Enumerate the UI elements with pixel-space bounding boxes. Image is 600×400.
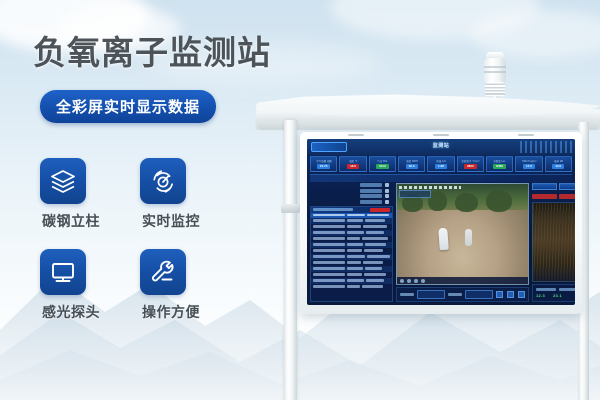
- monitor-icon: [40, 249, 86, 295]
- feature-label: 操作方便: [140, 302, 200, 322]
- control-label: [448, 293, 462, 296]
- sensor-radiation-fins: [485, 82, 505, 97]
- kpi-strip: 空气质量 指数 21.74 温度 ℃ 18.6 气压 hPa 1013 湿度 %…: [310, 156, 572, 172]
- summary-list: [310, 183, 393, 204]
- page-title: 负氧离子监测站: [33, 26, 271, 74]
- kpi-value: 43.5: [552, 164, 564, 169]
- alert-badge: [559, 194, 576, 199]
- kpi-label: 负氧离子 个/cm³: [461, 159, 479, 163]
- feature-label: 感光探头: [40, 302, 100, 322]
- kpi-label: 空气质量 指数: [316, 159, 331, 163]
- preset-select[interactable]: [465, 290, 493, 299]
- readout-value: 23.1: [553, 293, 562, 298]
- kpi-label: 温度 ℃: [349, 159, 357, 163]
- kpi-value: 1013: [376, 164, 389, 169]
- right-panel: 12.3 23.1: [532, 183, 575, 302]
- screen-logo-tag: [311, 142, 347, 152]
- weather-sensor: [482, 52, 508, 102]
- list-item: [360, 183, 389, 187]
- screen-divider-bar: [310, 174, 572, 182]
- screen-header-decor: [520, 141, 572, 153]
- table-row[interactable]: [311, 284, 392, 290]
- kpi-card[interactable]: 光照度 Lux 8450: [486, 156, 513, 172]
- pole-left: [284, 120, 297, 400]
- ctrl-button[interactable]: [496, 291, 503, 298]
- video-person: [438, 228, 449, 251]
- video-pause-icon[interactable]: [407, 279, 411, 283]
- kpi-card[interactable]: 温度 ℃ 18.6: [339, 156, 366, 172]
- kpi-label: 噪声 dB: [554, 159, 563, 163]
- alert-row: [532, 192, 575, 200]
- left-panel: [310, 183, 393, 302]
- screen-title: 监测站: [433, 142, 450, 149]
- canopy-highlight: [256, 94, 600, 116]
- control-buttons[interactable]: [496, 291, 525, 298]
- pole-clamp: [281, 204, 300, 213]
- kpi-card[interactable]: 负氧离子 个/cm³ 2860: [457, 156, 484, 172]
- list-item: [360, 200, 389, 204]
- kpi-value: 17.0: [523, 164, 535, 169]
- footer-labels: [536, 288, 575, 291]
- wrench-icon: [140, 249, 186, 295]
- kpi-value: 18.6: [347, 164, 359, 169]
- kpi-value: 21.74: [317, 164, 331, 169]
- feature-item-carbon-steel-column[interactable]: 碳钢立柱: [40, 158, 140, 231]
- kpi-value: 62.3: [406, 164, 418, 169]
- kpi-value: 2860: [464, 164, 477, 169]
- video-toolbar[interactable]: [397, 277, 528, 284]
- kpi-card[interactable]: 湿度 %RH 62.3: [398, 156, 425, 172]
- video-feed-main[interactable]: [396, 183, 529, 285]
- monitoring-station: 监测站 空气质量 指数 21.74 温度 ℃ 18.6 气压 hPa 1013: [248, 44, 600, 400]
- kpi-card[interactable]: 气压 hPa 1013: [369, 156, 396, 172]
- tab-item[interactable]: [559, 183, 576, 190]
- control-label: [400, 293, 414, 296]
- feature-item-photosensitive-probe[interactable]: 感光探头: [40, 249, 140, 322]
- kpi-label: 风速 m/s: [436, 159, 446, 163]
- kpi-card[interactable]: 空气质量 指数 21.74: [310, 156, 337, 172]
- kpi-label: 光照度 Lux: [494, 159, 506, 163]
- display-cabinet: 监测站 空气质量 指数 21.74 温度 ℃ 18.6 气压 hPa 1013: [300, 132, 582, 314]
- sensor-readouts: 12.3 23.1: [536, 293, 575, 298]
- feature-item-easy-operation[interactable]: 操作方便: [140, 249, 240, 322]
- kpi-value: 1.28: [435, 164, 447, 169]
- right-tabs[interactable]: [532, 183, 575, 190]
- feature-grid: 碳钢立柱 实时监控: [40, 158, 240, 322]
- data-table[interactable]: [310, 206, 393, 303]
- video-tree: [486, 190, 512, 212]
- alert-badge: [532, 194, 557, 199]
- cabinet-vents: [300, 134, 582, 138]
- highlight-badge: 全彩屏实时显示数据: [40, 90, 216, 123]
- kpi-label: 湿度 %RH: [406, 159, 417, 163]
- radar-icon: [140, 158, 186, 204]
- sensor-band: [484, 66, 506, 68]
- feature-label: 实时监控: [140, 211, 200, 231]
- kpi-label: 气压 hPa: [377, 159, 387, 163]
- center-panel: [396, 183, 529, 302]
- video-snapshot-icon[interactable]: [414, 279, 418, 283]
- video-tree: [428, 191, 446, 211]
- dashboard-screen[interactable]: 监测站 空气质量 指数 21.74 温度 ℃ 18.6 气压 hPa 1013: [307, 139, 575, 305]
- ctrl-button[interactable]: [518, 291, 525, 298]
- ctrl-button[interactable]: [507, 291, 514, 298]
- feature-label: 碳钢立柱: [40, 211, 100, 231]
- kpi-label: PM2.5 ug/m³: [522, 160, 536, 163]
- list-item: [360, 189, 389, 193]
- kpi-value: 8450: [493, 164, 506, 169]
- tab-item[interactable]: [532, 183, 557, 190]
- video-osd-text: [399, 186, 461, 189]
- list-item: [360, 194, 389, 198]
- layers-icon: [40, 158, 86, 204]
- video-play-icon[interactable]: [400, 279, 404, 283]
- video-osd-box: [399, 190, 431, 198]
- video-fullscreen-icon[interactable]: [421, 279, 425, 283]
- kpi-card[interactable]: 风速 m/s 1.28: [427, 156, 454, 172]
- camera-select[interactable]: [417, 290, 445, 299]
- kpi-card[interactable]: 噪声 dB 43.5: [545, 156, 572, 172]
- video-tree: [455, 193, 479, 212]
- video-person: [465, 229, 472, 246]
- table-action-button[interactable]: [370, 208, 390, 212]
- right-footer: 12.3 23.1: [532, 284, 575, 302]
- kpi-card[interactable]: PM2.5 ug/m³ 17.0: [515, 156, 542, 172]
- promo-banner: 监测站 空气质量 指数 21.74 温度 ℃ 18.6 气压 hPa 1013: [0, 0, 600, 400]
- video-feed-secondary[interactable]: [532, 202, 575, 282]
- screen-body: 12.3 23.1: [310, 183, 572, 302]
- video-controls[interactable]: [396, 287, 529, 302]
- feature-item-realtime-monitoring[interactable]: 实时监控: [140, 158, 240, 231]
- readout-value: 12.3: [536, 293, 545, 298]
- sensor-band: [484, 71, 506, 73]
